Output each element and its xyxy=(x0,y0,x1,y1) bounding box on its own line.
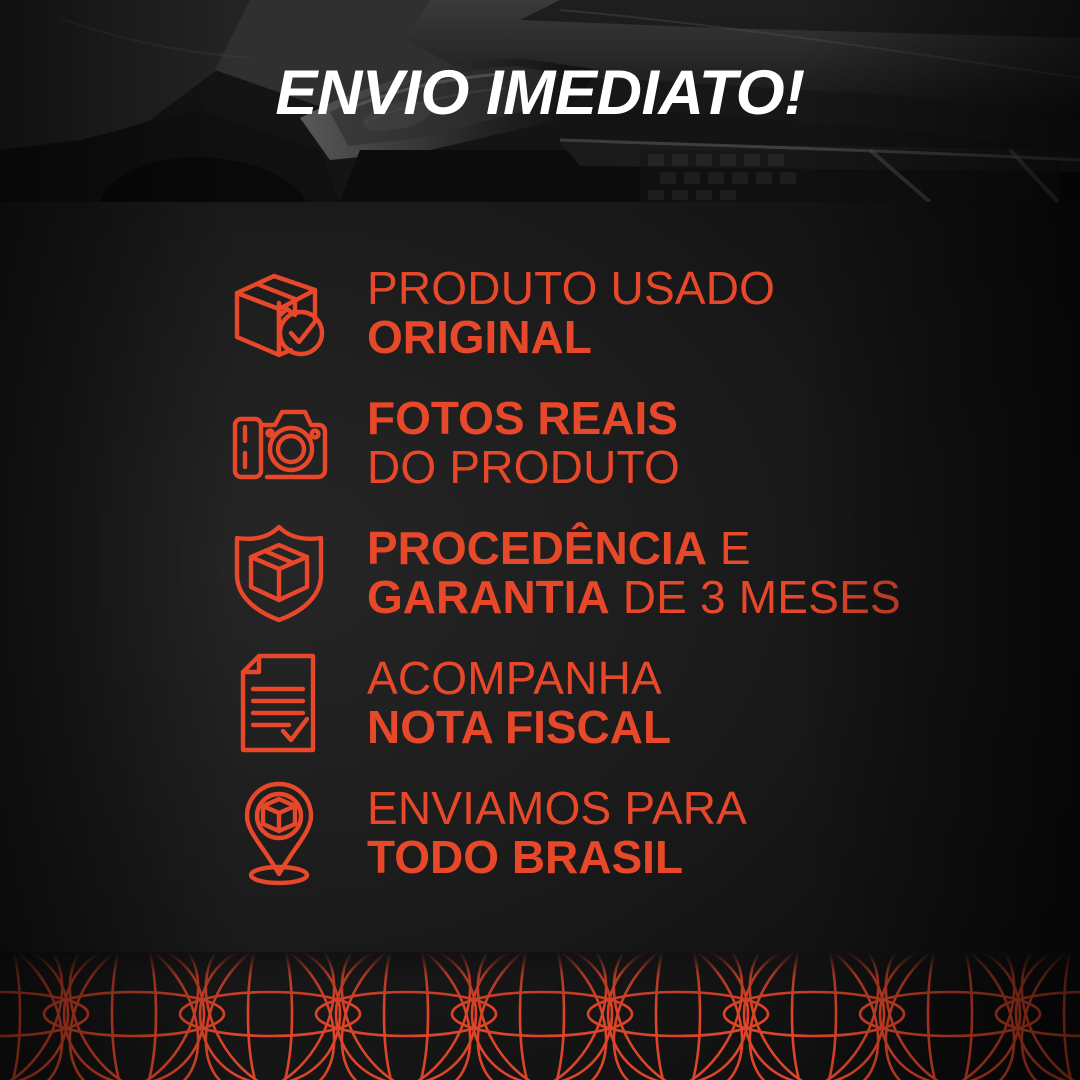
feature-line-2: NOTA FISCAL xyxy=(367,703,671,752)
feature-line-2-light: DE 3 MESES xyxy=(610,571,901,623)
feature-text: ACOMPANHA NOTA FISCAL xyxy=(367,654,671,752)
feature-text: ENVIAMOS PARA TODO BRASIL xyxy=(367,784,747,882)
feature-line-1: ENVIAMOS PARA xyxy=(367,784,747,833)
feature-line-1: PROCEDÊNCIA E xyxy=(367,524,901,573)
feature-line-1: ACOMPANHA xyxy=(367,654,671,703)
feature-text: FOTOS REAIS DO PRODUTO xyxy=(367,394,680,492)
feature-row-procedencia-garantia: PROCEDÊNCIA E GARANTIA DE 3 MESES xyxy=(224,508,1080,638)
feature-line-1-bold: PROCEDÊNCIA xyxy=(367,522,707,574)
feature-text: PRODUTO USADO ORIGINAL xyxy=(367,264,775,362)
feature-line-2: GARANTIA DE 3 MESES xyxy=(367,573,901,622)
feature-row-produto-usado: PRODUTO USADO ORIGINAL xyxy=(224,248,1080,378)
feature-row-nota-fiscal: ACOMPANHA NOTA FISCAL xyxy=(224,638,1080,768)
headline: ENVIO IMEDIATO! xyxy=(0,62,1080,125)
package-box-check-icon xyxy=(224,258,334,368)
invoice-document-check-icon xyxy=(224,648,334,758)
feature-line-1-light: E xyxy=(707,522,751,574)
feature-row-fotos-reais: FOTOS REAIS DO PRODUTO xyxy=(224,378,1080,508)
hero-section: ENVIO IMEDIATO! xyxy=(0,0,1080,202)
feature-list: PRODUTO USADO ORIGINAL xyxy=(224,248,1080,898)
feature-row-todo-brasil: ENVIAMOS PARA TODO BRASIL xyxy=(224,768,1080,898)
promo-banner: ENVIO IMEDIATO! xyxy=(0,0,1080,1080)
feature-line-1: PRODUTO USADO xyxy=(367,264,775,313)
location-pin-box-icon xyxy=(224,778,334,888)
feature-line-2: DO PRODUTO xyxy=(367,443,680,492)
feature-text: PROCEDÊNCIA E GARANTIA DE 3 MESES xyxy=(367,524,901,622)
footer-pattern xyxy=(0,952,1080,1080)
feature-line-2-bold: GARANTIA xyxy=(367,571,610,623)
feature-line-2: ORIGINAL xyxy=(367,313,775,362)
feature-line-1: FOTOS REAIS xyxy=(367,394,680,443)
camera-icon xyxy=(224,388,334,498)
feature-line-2: TODO BRASIL xyxy=(367,833,747,882)
shield-box-icon xyxy=(224,518,334,628)
